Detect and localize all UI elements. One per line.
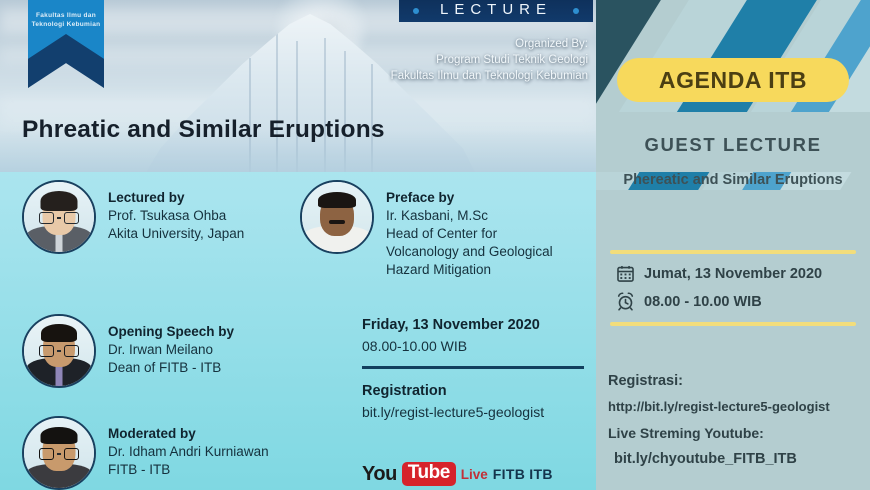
sidebar-registration-label: Registrasi: xyxy=(608,368,866,394)
agenda-title-pill: AGENDA ITB xyxy=(617,58,849,102)
calendar-icon xyxy=(616,264,635,283)
organizer-line-1: Program Studi Teknik Geologi xyxy=(288,52,588,68)
youtube-live-row[interactable]: You Tube Live FITB ITB xyxy=(362,462,553,486)
youtube-logo-tube: Tube xyxy=(402,462,456,486)
alarm-clock-icon xyxy=(616,292,635,311)
poster-body: Lectured by Prof. Tsukasa Ohba Akita Uni… xyxy=(0,172,596,490)
agenda-title: AGENDA ITB xyxy=(659,67,807,94)
registration-label: Registration xyxy=(362,380,544,402)
sidebar-subtitle: Phereatic and Similar Eruptions xyxy=(596,172,870,188)
sidebar-registration-url[interactable]: http://bit.ly/regist-lecture5-geologist xyxy=(608,394,866,420)
registration-link[interactable]: bit.ly/regist-lecture5-geologist xyxy=(362,402,544,422)
banner-dot-icon xyxy=(413,8,419,14)
ribbon-label: Fakultas Ilmu dan Teknologi Kebumian xyxy=(31,11,101,29)
sidebar-date-row: Jumat, 13 November 2020 xyxy=(616,264,822,283)
person-affiliation-2: Volcanology and Geological xyxy=(386,243,553,261)
person-text: Moderated by Dr. Idham Andri Kurniawan F… xyxy=(108,416,269,479)
person-role: Opening Speech by xyxy=(108,323,234,341)
agenda-sidebar: AGENDA ITB GUEST LECTURE Phereatic and S… xyxy=(596,0,870,490)
sidebar-registration-block: Registrasi: http://bit.ly/regist-lecture… xyxy=(608,368,866,472)
event-datetime: Friday, 13 November 2020 08.00-10.00 WIB xyxy=(362,314,540,356)
person-name: Ir. Kasbani, M.Sc xyxy=(386,207,553,225)
person-moderated-by: Moderated by Dr. Idham Andri Kurniawan F… xyxy=(22,416,269,490)
avatar xyxy=(300,180,374,254)
sidebar-stream-url[interactable]: bit.ly/chyoutube_FITB_ITB xyxy=(608,446,866,472)
poster-title: Phreatic and Similar Eruptions xyxy=(22,116,385,144)
youtube-live-label: Live xyxy=(461,467,488,482)
sidebar-time-row: 08.00 - 10.00 WIB xyxy=(616,292,762,311)
organized-by-label: Organized By: xyxy=(288,36,588,52)
organizer-block: Organized By: Program Studi Teknik Geolo… xyxy=(288,36,588,84)
registration-block: Registration bit.ly/regist-lecture5-geol… xyxy=(362,380,544,422)
person-affiliation: Akita University, Japan xyxy=(108,225,244,243)
person-affiliation-3: Hazard Mitigation xyxy=(386,261,553,279)
youtube-channel-name: FITB ITB xyxy=(493,466,553,482)
person-role: Preface by xyxy=(386,189,553,207)
person-text: Opening Speech by Dr. Irwan Meilano Dean… xyxy=(108,314,234,377)
sidebar-kicker: GUEST LECTURE xyxy=(596,134,870,156)
youtube-logo-you: You xyxy=(362,463,397,486)
lecture-banner: LECTURE xyxy=(399,0,593,22)
person-affiliation: Dean of FITB - ITB xyxy=(108,359,234,377)
sidebar-time-label: 08.00 - 10.00 WIB xyxy=(644,294,762,310)
person-text: Lectured by Prof. Tsukasa Ohba Akita Uni… xyxy=(108,180,244,243)
event-date: Friday, 13 November 2020 xyxy=(362,314,540,336)
avatar xyxy=(22,314,96,388)
sidebar-date-label: Jumat, 13 November 2020 xyxy=(644,266,822,282)
person-name: Dr. Irwan Meilano xyxy=(108,341,234,359)
poster-screenshot: Fakultas Ilmu dan Teknologi Kebumian LEC… xyxy=(0,0,870,490)
event-poster: Fakultas Ilmu dan Teknologi Kebumian LEC… xyxy=(0,0,596,490)
person-lectured-by: Lectured by Prof. Tsukasa Ohba Akita Uni… xyxy=(22,180,244,254)
person-role: Moderated by xyxy=(108,425,269,443)
person-text: Preface by Ir. Kasbani, M.Sc Head of Cen… xyxy=(386,180,553,279)
person-role: Lectured by xyxy=(108,189,244,207)
event-time: 08.00-10.00 WIB xyxy=(362,336,540,356)
lecture-banner-label: LECTURE xyxy=(440,1,552,18)
avatar xyxy=(22,180,96,254)
divider xyxy=(362,366,584,369)
person-opening-speech-by: Opening Speech by Dr. Irwan Meilano Dean… xyxy=(22,314,234,388)
person-affiliation: Head of Center for xyxy=(386,225,553,243)
person-name: Dr. Idham Andri Kurniawan xyxy=(108,443,269,461)
banner-dot-icon xyxy=(573,8,579,14)
sidebar-stream-label: Live Streming Youtube: xyxy=(608,420,866,446)
avatar xyxy=(22,416,96,490)
divider xyxy=(610,322,856,326)
person-preface-by: Preface by Ir. Kasbani, M.Sc Head of Cen… xyxy=(300,180,553,279)
faculty-ribbon-badge: Fakultas Ilmu dan Teknologi Kebumian xyxy=(28,0,104,88)
person-affiliation: FITB - ITB xyxy=(108,461,269,479)
organizer-line-2: Fakultas Ilmu dan Teknologi Kebumian xyxy=(288,68,588,84)
divider xyxy=(610,250,856,254)
person-name: Prof. Tsukasa Ohba xyxy=(108,207,244,225)
